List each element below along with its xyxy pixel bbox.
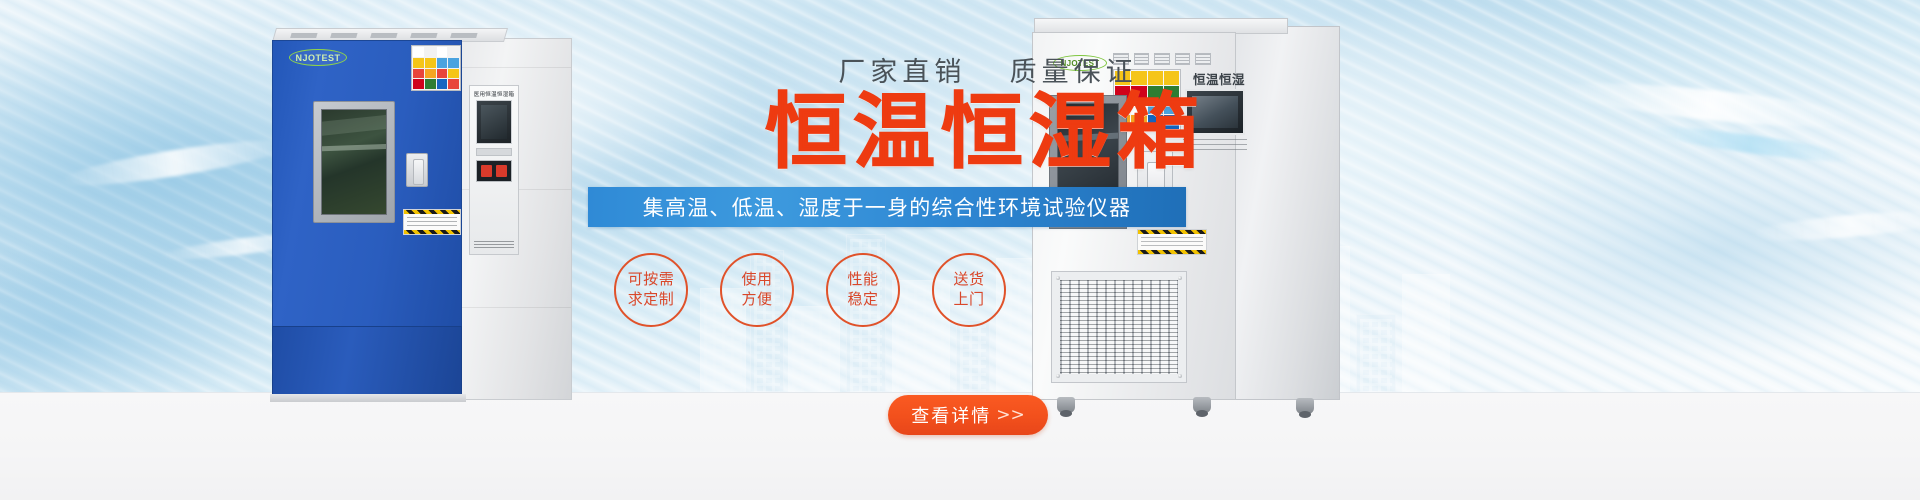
view-details-button[interactable]: 查看详情 >> [888,395,1048,435]
left-machine-door-handle [406,153,428,187]
left-machine-touchscreen [476,100,512,144]
banner-subtitle-bar: 集高温、低温、湿度于一身的综合性环境试验仪器 [588,187,1186,227]
badge-line-1: 送货 [953,270,984,289]
feature-badge-stable[interactable]: 性能 稳定 [826,253,900,327]
badge-line-2: 方便 [741,290,772,309]
feature-badge-list: 可按需 求定制 使用 方便 性能 稳定 送货 上门 [614,253,1320,327]
banner-headline: 恒温恒湿箱 [650,91,1320,175]
banner-stage: NJOTEST 医用恒温恒湿箱 [0,0,1920,500]
banner-subtitle-text: 集高温、低温、湿度于一身的综合性环境试验仪器 [643,192,1131,222]
left-machine-warning-labels [411,45,461,91]
banner-copy: 厂家直销 质量保证 恒温恒湿箱 集高温、低温、湿度于一身的综合性环境试验仪器 可… [600,50,1320,327]
left-machine-plinth [270,394,466,402]
badge-line-2: 稳定 [847,290,878,309]
tagline-left-text: 厂家直销 [838,57,966,88]
tagline-right-text: 质量保证 [1010,57,1138,88]
cta-arrows-icon: >> [996,405,1025,425]
left-machine-panel-footer-text [474,241,514,250]
left-machine-base [272,326,462,400]
left-machine-viewing-window [313,101,395,223]
cta-label: 查看详情 [911,402,991,428]
feature-badge-custom[interactable]: 可按需 求定制 [614,253,688,327]
left-machine-panel-strip [476,148,512,156]
product-image-left: NJOTEST 医用恒温恒湿箱 [272,28,572,400]
badge-line-1: 使用 [741,270,772,289]
badge-line-1: 性能 [847,270,878,289]
badge-line-1: 可按需 [628,270,675,289]
left-machine-control-panel: 医用恒温恒湿箱 [469,85,519,255]
banner-tagline: 厂家直销 质量保证 [656,50,1320,89]
right-machine-caster-rear [1296,398,1314,414]
badge-line-2: 求定制 [628,290,675,309]
right-machine-caster-left [1057,397,1075,413]
left-machine-panel-title: 医用恒温恒湿箱 [470,90,518,98]
right-machine-caster-right [1193,397,1211,413]
feature-badge-easy-use[interactable]: 使用 方便 [720,253,794,327]
left-machine-led-display [476,160,512,182]
left-machine-spec-label [403,209,461,235]
feature-badge-delivery[interactable]: 送货 上门 [932,253,1006,327]
left-machine-body: NJOTEST 医用恒温恒湿箱 [272,40,462,328]
left-machine-logo: NJOTEST [289,49,347,66]
badge-line-2: 上门 [953,290,984,309]
